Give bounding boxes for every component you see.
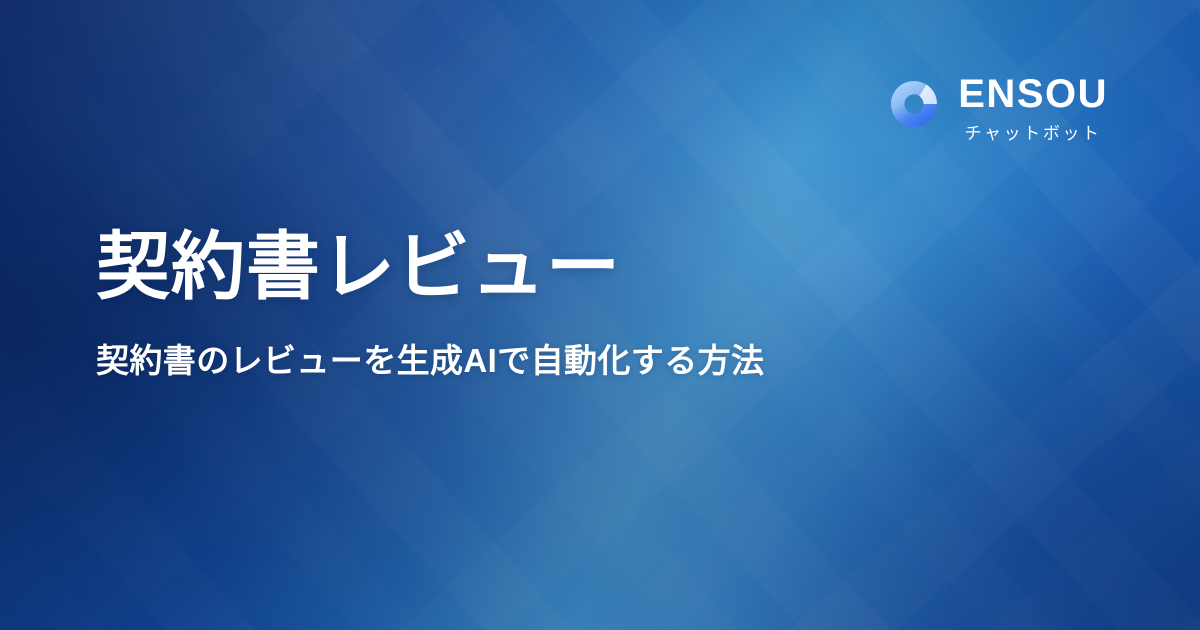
page-subtitle: 契約書のレビューを生成AIで自動化する方法 <box>96 338 764 384</box>
headline-block: 契約書レビュー 契約書のレビューを生成AIで自動化する方法 <box>96 224 764 384</box>
brand-lockup: ENSOU チャットボット <box>888 74 1108 142</box>
ensou-circle-mark-icon <box>888 78 940 130</box>
brand-name: ENSOU <box>958 74 1108 114</box>
brand-tagline: チャットボット <box>965 125 1102 142</box>
banner-content: ENSOU チャットボット 契約書レビュー 契約書のレビューを生成AIで自動化す… <box>0 0 1200 630</box>
brand-text-block: ENSOU チャットボット <box>958 74 1108 142</box>
share-banner-card: ENSOU チャットボット 契約書レビュー 契約書のレビューを生成AIで自動化す… <box>0 0 1200 630</box>
page-title: 契約書レビュー <box>96 224 764 310</box>
